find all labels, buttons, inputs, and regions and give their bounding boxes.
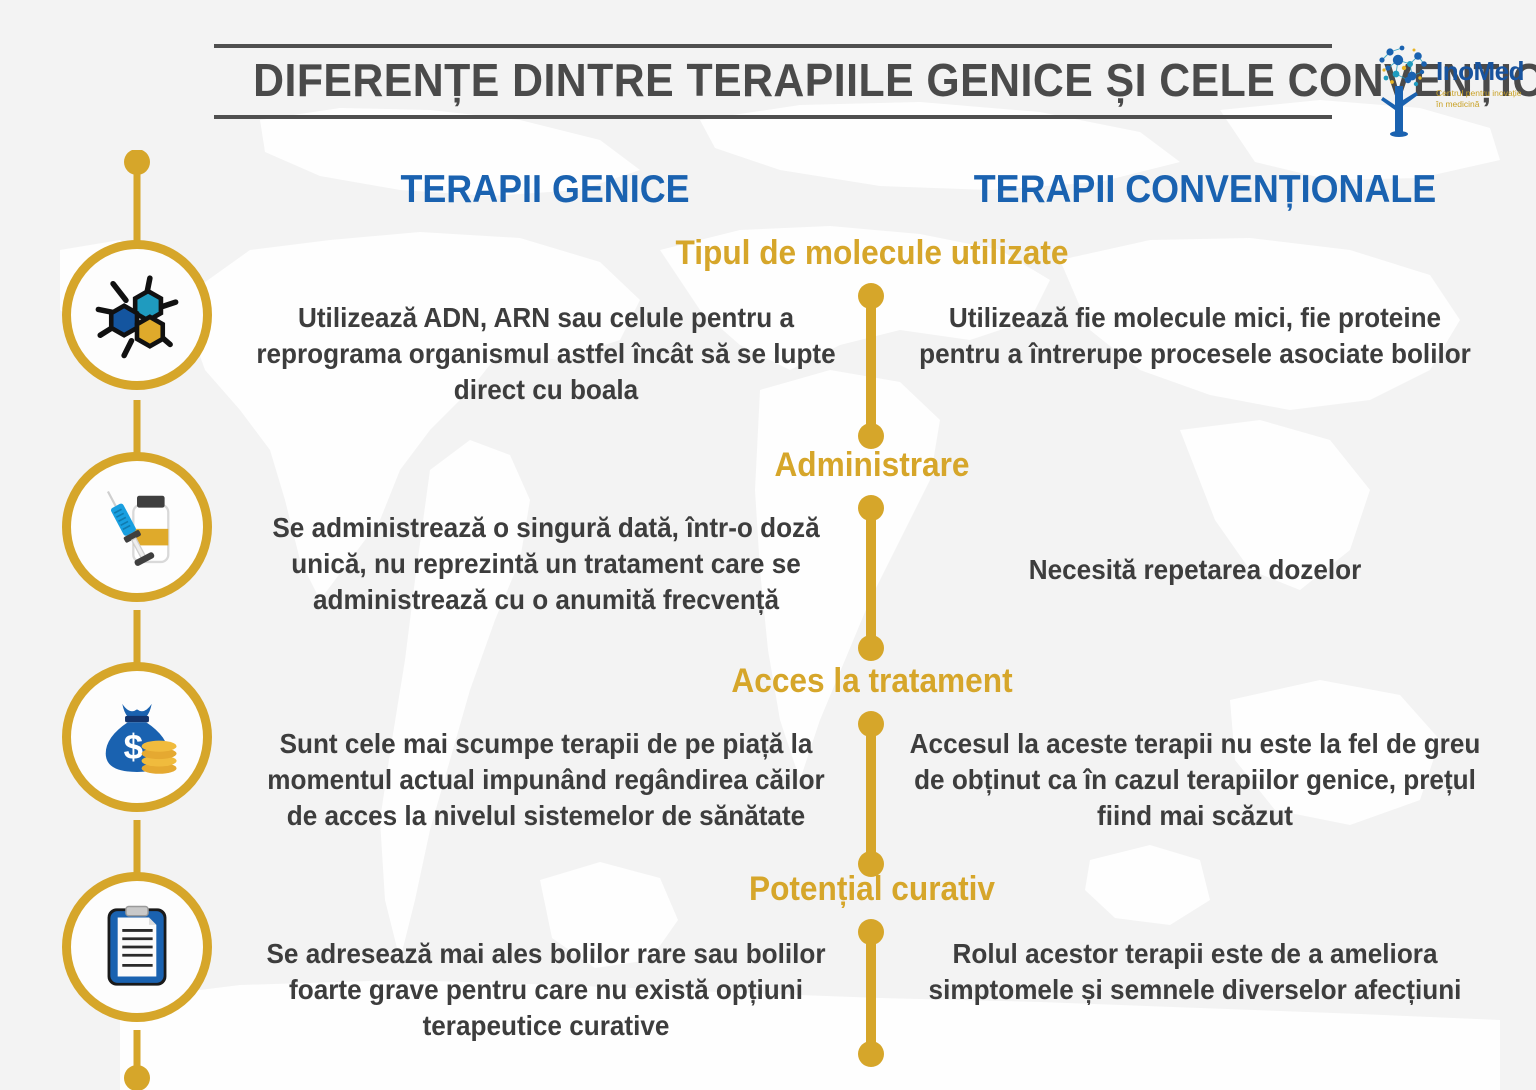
clipboard-icon xyxy=(91,901,183,993)
rail-icon-clipboard xyxy=(62,872,212,1022)
section-3-right-text: Rolul acestor terapii este de a ameliora… xyxy=(905,936,1485,1008)
tree-network-logo-icon xyxy=(1368,38,1434,138)
logo-tagline-line1: Centrul pentru inovație xyxy=(1436,88,1528,99)
page-title: DIFERENȚE DINTRE TERAPIILE GENICE ȘI CEL… xyxy=(253,48,1293,115)
syringe-vial-icon xyxy=(91,481,183,573)
section-divider-2 xyxy=(866,720,876,868)
title-block: DIFERENȚE DINTRE TERAPIILE GENICE ȘI CEL… xyxy=(214,44,1332,119)
section-label-2: Acces la tratament xyxy=(547,662,1198,701)
section-0-left-text: Utilizează ADN, ARN sau celule pentru a … xyxy=(252,300,841,407)
section-1-left-text: Se administrează o singură dată, într-o … xyxy=(252,510,841,617)
column-heading-gene-therapies: TERAPII GENICE xyxy=(347,168,743,212)
icon-rail: $ xyxy=(0,0,260,1090)
section-divider-1 xyxy=(866,504,876,652)
section-2-left-text: Sunt cele mai scumpe terapii de pe piață… xyxy=(252,726,841,833)
section-label-3: Potențial curativ xyxy=(547,870,1198,909)
title-rule-bottom xyxy=(214,115,1332,119)
section-3-left-text: Se adresează mai ales bolilor rare sau b… xyxy=(252,936,841,1043)
svg-text:$: $ xyxy=(124,728,143,767)
section-0-right-text: Utilizează fie molecule mici, fie protei… xyxy=(905,300,1485,372)
section-1-right-text: Necesită repetarea dozelor xyxy=(905,552,1485,588)
logo-tagline: Centrul pentru inovație în medicină xyxy=(1436,88,1528,111)
section-label-0: Tipul de molecule utilizate xyxy=(547,234,1198,273)
rail-icon-syringe-vial xyxy=(62,452,212,602)
logo[interactable]: InoMed Centrul pentru inovație în medici… xyxy=(1368,38,1526,142)
section-2-right-text: Accesul la aceste terapii nu este la fel… xyxy=(905,726,1485,833)
rail-icon-molecule xyxy=(62,240,212,390)
logo-name: InoMed xyxy=(1436,58,1528,84)
section-label-1: Administrare xyxy=(547,446,1198,485)
molecule-icon xyxy=(91,269,183,361)
column-heading-conventional-therapies: TERAPII CONVENȚIONALE xyxy=(869,168,1536,212)
section-divider-3 xyxy=(866,928,876,1058)
money-bag-icon: $ xyxy=(91,691,183,783)
logo-text: InoMed Centrul pentru inovație în medici… xyxy=(1436,58,1528,111)
rail-icon-money-bag: $ xyxy=(62,662,212,812)
section-divider-0 xyxy=(866,292,876,440)
logo-tagline-line2: în medicină xyxy=(1436,99,1528,110)
